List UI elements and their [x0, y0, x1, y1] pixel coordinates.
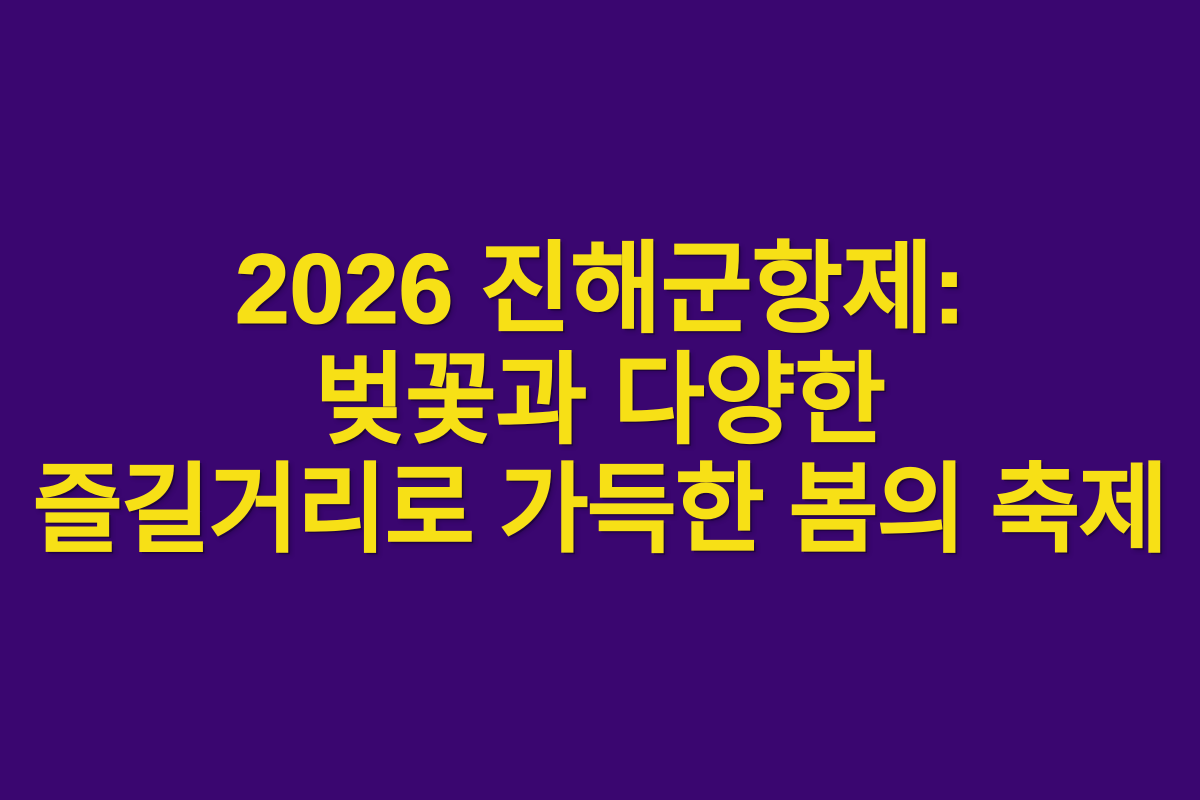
poster-canvas: 2026 진해군항제: 벚꽃과 다양한 즐길거리로 가득한 봄의 축제	[0, 0, 1200, 800]
page-title: 2026 진해군항제: 벚꽃과 다양한 즐길거리로 가득한 봄의 축제	[0, 234, 1200, 564]
title-line-3: 즐길거리로 가득한 봄의 축제	[20, 456, 1180, 565]
title-line-1: 2026 진해군항제:	[20, 234, 1180, 345]
title-line-2: 벚꽃과 다양한	[20, 345, 1180, 456]
